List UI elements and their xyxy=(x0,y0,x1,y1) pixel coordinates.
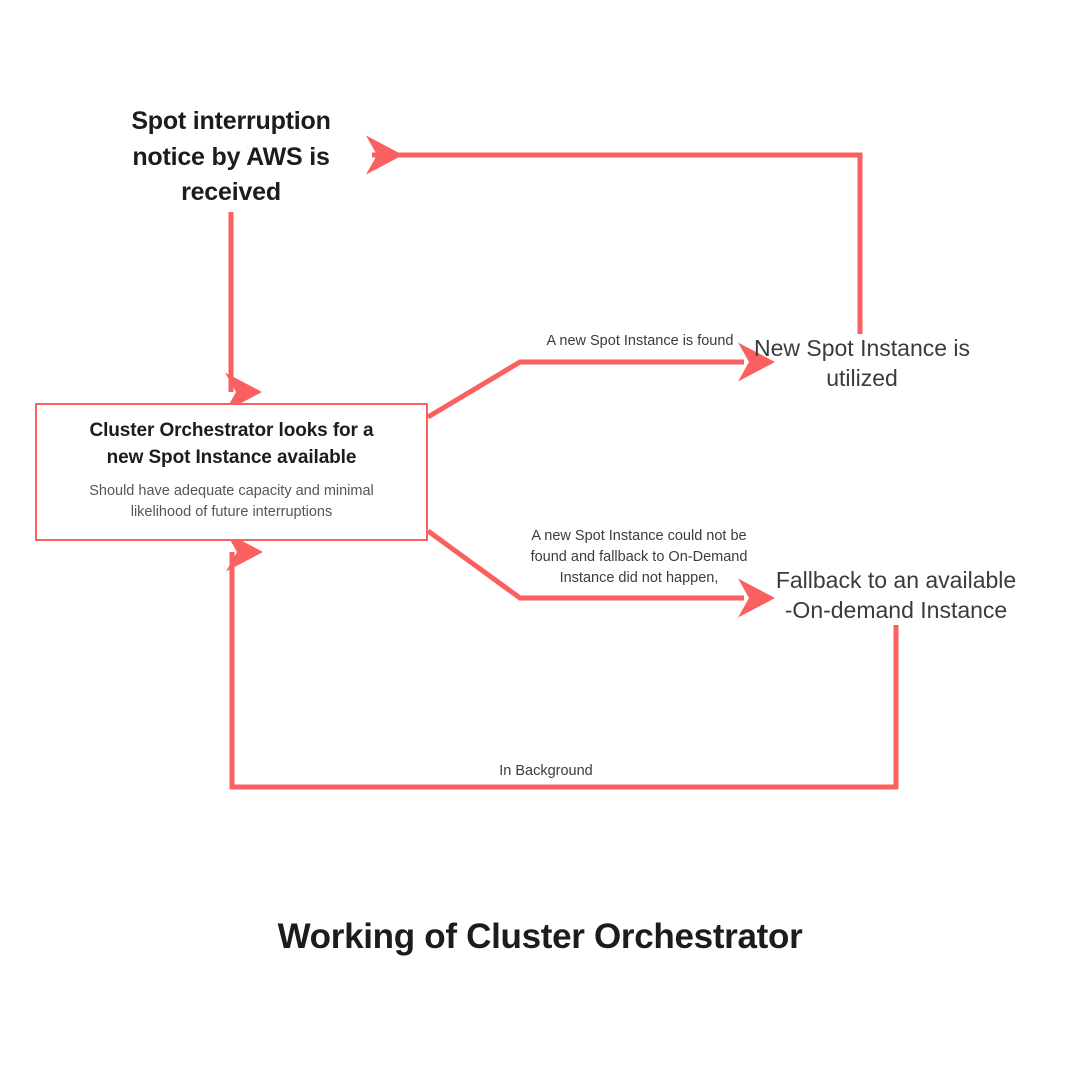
orchestrator-subtitle-line-2: likelihood of future interruptions xyxy=(131,502,333,523)
node-spot-notice-line-1: Spot interruption xyxy=(96,104,366,140)
edge-label-spot-not-found-line-2: found and fallback to On-Demand xyxy=(508,547,770,568)
edge-label-in-background: In Background xyxy=(436,761,656,782)
orchestrator-title-line-2: new Spot Instance available xyxy=(107,444,357,472)
edge-orchestrator-to-new-spot xyxy=(428,362,744,417)
node-cluster-orchestrator: Cluster Orchestrator looks for a new Spo… xyxy=(35,403,428,541)
fallback-line-2: -On-demand Instance xyxy=(760,596,1032,626)
orchestrator-title-line-1: Cluster Orchestrator looks for a xyxy=(90,417,374,445)
fallback-line-1: Fallback to an available xyxy=(760,566,1032,596)
edge-label-spot-not-found-line-3: Instance did not happen, xyxy=(508,568,770,589)
new-spot-line-1: New Spot Instance is xyxy=(742,334,982,364)
node-fallback-on-demand-instance: Fallback to an available -On-demand Inst… xyxy=(760,566,1032,626)
edge-label-spot-found: A new Spot Instance is found xyxy=(514,331,766,352)
node-new-spot-instance-utilized: New Spot Instance is utilized xyxy=(742,334,982,394)
diagram-canvas: Spot interruption notice by AWS is recei… xyxy=(0,0,1080,1080)
edge-label-spot-not-found: A new Spot Instance could not be found a… xyxy=(508,526,770,589)
orchestrator-subtitle-line-1: Should have adequate capacity and minima… xyxy=(89,481,374,502)
node-spot-notice-line-2: notice by AWS is xyxy=(96,140,366,176)
diagram-caption: Working of Cluster Orchestrator xyxy=(0,917,1080,957)
node-spot-notice-line-3: received xyxy=(96,175,366,211)
edge-label-spot-not-found-line-1: A new Spot Instance could not be xyxy=(508,526,770,547)
node-spot-interruption-notice: Spot interruption notice by AWS is recei… xyxy=(96,104,366,211)
new-spot-line-2: utilized xyxy=(742,364,982,394)
edge-new-spot-to-notice xyxy=(372,155,860,334)
